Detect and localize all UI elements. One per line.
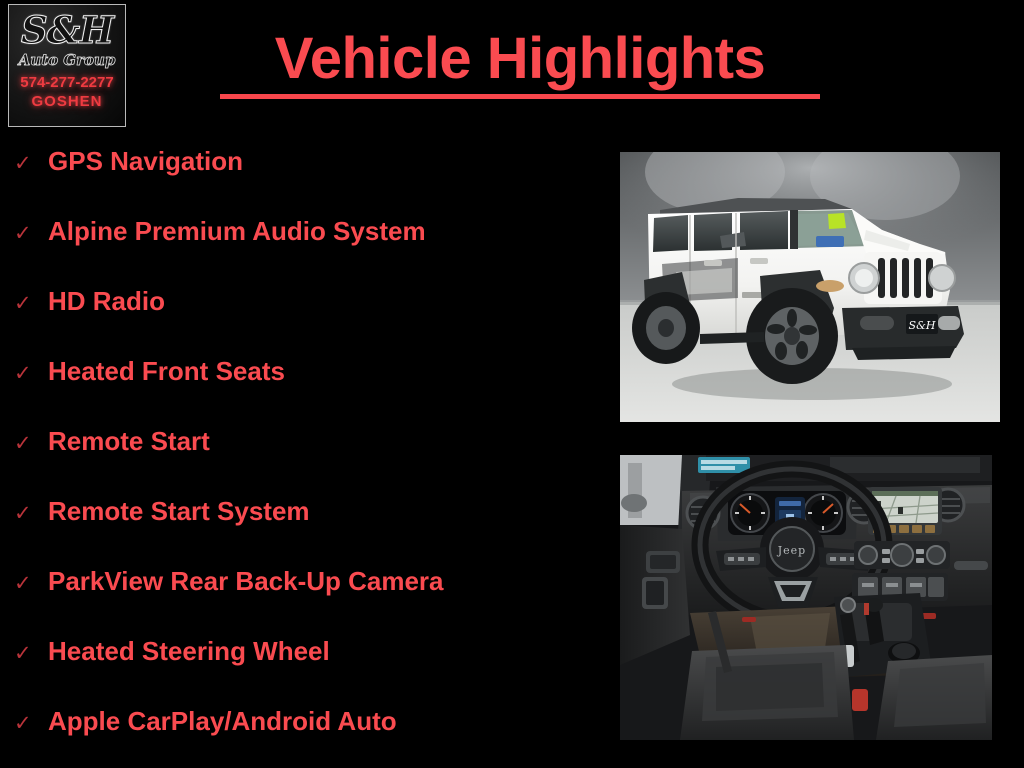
highlight-label: ParkView Rear Back-Up Camera [48, 566, 444, 596]
check-icon: ✓ [14, 640, 48, 666]
svg-text:Jeep: Jeep [777, 544, 806, 557]
check-icon: ✓ [14, 500, 48, 526]
check-icon: ✓ [14, 430, 48, 456]
vehicle-interior-photo: Jeep [620, 455, 992, 740]
list-item: ✓ HD Radio [14, 286, 594, 356]
check-icon: ✓ [14, 150, 48, 176]
highlight-label: Apple CarPlay/Android Auto [48, 706, 397, 736]
logo-phone-number: 574-277-2277 [20, 74, 113, 92]
highlight-label: Heated Steering Wheel [48, 636, 330, 666]
title-underline-rule [220, 94, 820, 99]
check-icon: ✓ [14, 290, 48, 316]
list-item: ✓ Remote Start [14, 426, 594, 496]
highlight-label: Heated Front Seats [48, 356, 285, 386]
logo-city: GOSHEN [31, 93, 102, 111]
logo-brand-secondary: Auto Group [19, 51, 116, 70]
list-item: ✓ Alpine Premium Audio System [14, 216, 594, 286]
check-icon: ✓ [14, 570, 48, 596]
list-item: ✓ Heated Steering Wheel [14, 636, 594, 706]
logo-brand-primary: S&H [21, 10, 113, 50]
dealer-logo: S&H Auto Group 574-277-2277 GOSHEN [8, 4, 126, 127]
list-item: ✓ Remote Start System [14, 496, 594, 566]
svg-text:S&H: S&H [909, 319, 936, 332]
check-icon: ✓ [14, 710, 48, 736]
list-item: ✓ Heated Front Seats [14, 356, 594, 426]
highlight-label: GPS Navigation [48, 146, 243, 176]
vehicle-exterior-photo: S&H [620, 152, 1000, 422]
check-icon: ✓ [14, 220, 48, 246]
page-title-container: Vehicle Highlights [150, 26, 890, 99]
vehicle-highlights-list: ✓ GPS Navigation ✓ Alpine Premium Audio … [14, 146, 594, 768]
list-item: ✓ ParkView Rear Back-Up Camera [14, 566, 594, 636]
list-item: ✓ GPS Navigation [14, 146, 594, 216]
check-icon: ✓ [14, 360, 48, 386]
highlight-label: HD Radio [48, 286, 165, 316]
highlight-label: Remote Start [48, 426, 210, 456]
list-item: ✓ Apple CarPlay/Android Auto [14, 706, 594, 768]
highlight-label: Alpine Premium Audio System [48, 216, 426, 246]
highlight-label: Remote Start System [48, 496, 310, 526]
page-title: Vehicle Highlights [150, 26, 890, 92]
